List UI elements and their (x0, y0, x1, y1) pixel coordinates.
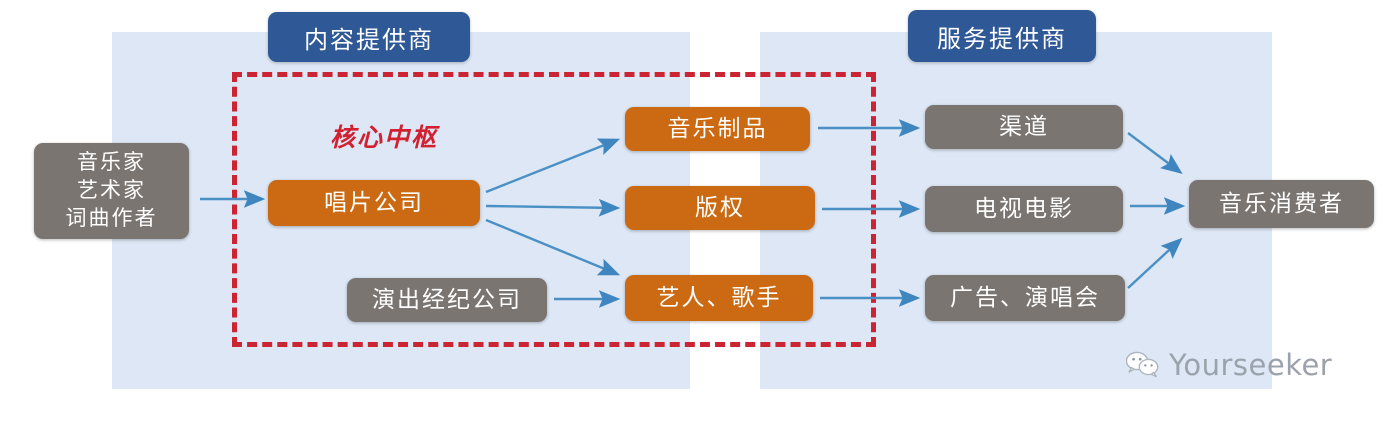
node-copyright[interactable]: 版权 (625, 186, 815, 230)
node-performance-agency[interactable]: 演出经纪公司 (347, 278, 547, 322)
core-region-label: 核心中枢 (330, 118, 438, 154)
diagram-canvas: 核心中枢 (0, 0, 1397, 427)
section-header-service-provider: 服务提供商 (908, 10, 1096, 62)
node-music-products[interactable]: 音乐制品 (625, 107, 810, 151)
node-creators-line-1: 音乐家 (77, 149, 146, 177)
wechat-icon (1126, 351, 1160, 379)
node-creators-line-3: 词曲作者 (66, 205, 158, 233)
node-creators-line-2: 艺术家 (77, 177, 146, 205)
node-tv-film[interactable]: 电视电影 (925, 186, 1123, 232)
node-artists-singers[interactable]: 艺人、歌手 (625, 275, 813, 321)
node-record-label[interactable]: 唱片公司 (268, 180, 480, 226)
watermark-text: Yourseeker (1169, 348, 1332, 382)
watermark: Yourseeker (1126, 348, 1332, 382)
node-music-consumers[interactable]: 音乐消费者 (1189, 180, 1374, 228)
node-ads-concerts[interactable]: 广告、演唱会 (925, 275, 1125, 321)
node-creators[interactable]: 音乐家 艺术家 词曲作者 (34, 143, 189, 239)
section-header-content-provider: 内容提供商 (268, 12, 470, 62)
node-channel[interactable]: 渠道 (925, 105, 1123, 149)
